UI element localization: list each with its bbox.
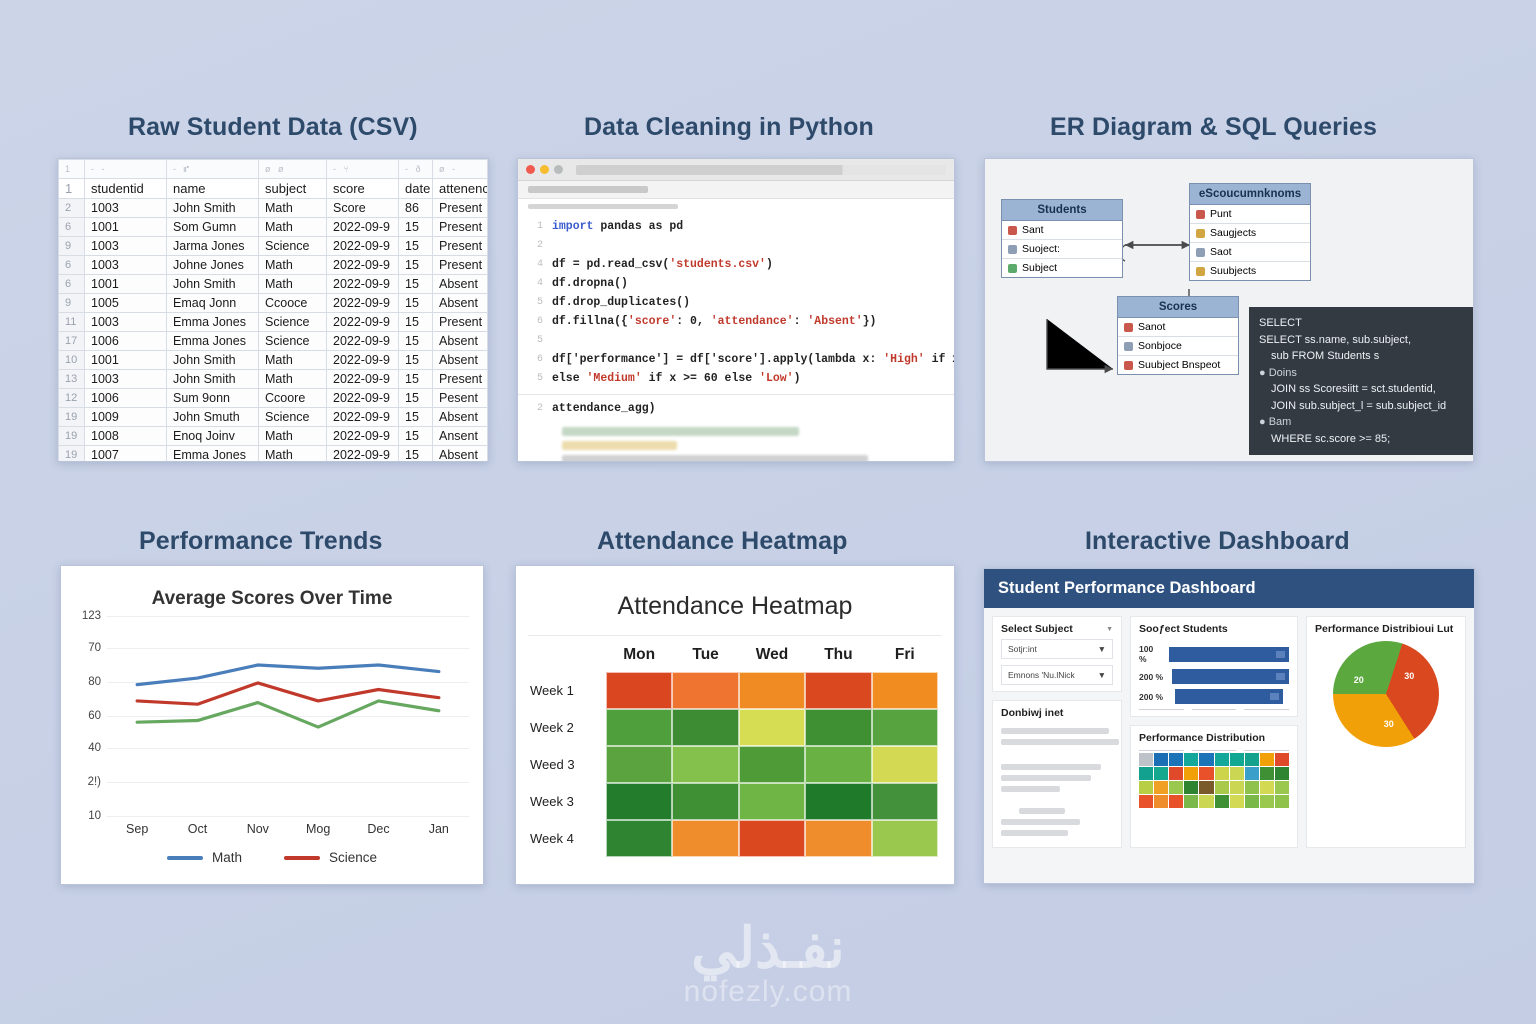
chevron-down-icon[interactable]: ▼ (1098, 670, 1106, 680)
heatmap-title: Attendance Heatmap (516, 566, 954, 635)
cell-attendance[interactable]: Present (433, 313, 488, 332)
column-header[interactable]: studentid (85, 179, 167, 199)
cell-date[interactable]: 15 (399, 275, 433, 294)
placeholder-line (1019, 808, 1065, 814)
ghost-cell: - - (85, 160, 167, 179)
notes-card[interactable]: Donbiwj inet (992, 700, 1122, 848)
table-row[interactable]: 191008Enoq JoinvMath2022-09-915Ansent (59, 427, 488, 446)
er-field[interactable]: Subject (1002, 259, 1122, 277)
csv-table-body[interactable]: 1- -- ⑈ø ø- ⑂- ðø -1studentidnamesubject… (59, 160, 488, 463)
heatmap-cell[interactable] (606, 672, 672, 709)
heatmap-cell[interactable] (606, 820, 672, 857)
line-number: 2 (518, 399, 552, 418)
code-cell-2[interactable]: 2attendance_agg) (518, 395, 954, 418)
row-number: 19 (59, 446, 85, 463)
mini-heatmap-cell[interactable] (1230, 781, 1244, 794)
table-row[interactable]: 91005Emaq JonnCcooce2022-09-915Absent (59, 294, 488, 313)
column-header[interactable]: attenence (433, 179, 488, 199)
mini-heatmap-cell[interactable] (1139, 781, 1153, 794)
code-line[interactable]: 2 (518, 236, 954, 255)
chart-legend[interactable]: MathScience (61, 850, 483, 865)
er-field[interactable]: Suoject: (1002, 240, 1122, 259)
heatmap-cell[interactable] (805, 746, 871, 783)
er-field-label: Suubject Bnspeot (1138, 359, 1220, 371)
mini-heatmap-cell[interactable] (1154, 781, 1168, 794)
toolbar-placeholder (528, 186, 648, 193)
y-axis-tick-label: 40 (63, 742, 101, 754)
cell-date[interactable]: 15 (399, 313, 433, 332)
mini-heatmap-cell[interactable] (1215, 753, 1229, 766)
cell-studentid[interactable]: 1006 (85, 332, 167, 351)
mini-heatmap-cell[interactable] (1245, 781, 1259, 794)
cell-studentid[interactable]: 1003 (85, 237, 167, 256)
mini-heatmap-cell[interactable] (1260, 795, 1274, 808)
csv-table[interactable]: 1- -- ⑈ø ø- ⑂- ðø -1studentidnamesubject… (58, 159, 488, 462)
mini-heatmap-cell[interactable] (1245, 795, 1259, 808)
legend-swatch (167, 856, 203, 860)
heatmap-cell[interactable] (672, 672, 738, 709)
table-row[interactable]: 21003John SmithMathScore86Present (59, 199, 488, 218)
cell-studentid[interactable]: 1003 (85, 199, 167, 218)
cell-studentid[interactable]: 1008 (85, 427, 167, 446)
mini-heatmap-cell[interactable] (1184, 753, 1198, 766)
heatmap-row-label: Week 1 (530, 672, 606, 709)
cell-name[interactable]: John Smuth (167, 408, 259, 427)
sql-query-box[interactable]: SELECTSELECT ss.name, sub.subject,sub FR… (1249, 307, 1474, 455)
python-notebook-panel[interactable]: 1import pandas as pd24df = pd.read_csv('… (517, 158, 955, 462)
cell-studentid[interactable]: 1006 (85, 389, 167, 408)
mini-heatmap-cell[interactable] (1199, 753, 1213, 766)
y-axis-tick-label: 2!) (63, 776, 101, 788)
y-axis-tick-label: 123 (63, 610, 101, 622)
line-number: 6 (518, 312, 552, 331)
heatmap-row-label: Week 3 (530, 783, 606, 820)
er-field[interactable]: Saugjects (1190, 224, 1310, 243)
subject-filter-card[interactable]: Select Subject ▼ Sotjr:int ▼ Emnons 'Nu.… (992, 616, 1122, 692)
pie-card-title: Performance Distribioui Lut (1307, 617, 1465, 639)
cell-subject[interactable]: Math (259, 427, 327, 446)
cell-subject[interactable]: Science (259, 408, 327, 427)
table-row[interactable]: 191007Emma JonesMath2022-09-915Absent (59, 446, 488, 463)
bar[interactable] (1169, 647, 1289, 662)
performance-trends-chart-panel[interactable]: Average Scores Over Time 123708060402!)1… (60, 565, 484, 885)
heatmap-cell[interactable] (872, 820, 938, 857)
mini-heatmap-cell[interactable] (1275, 767, 1289, 780)
mini-heatmap-cell[interactable] (1184, 795, 1198, 808)
cell-attendance[interactable]: Present (433, 256, 488, 275)
code-line[interactable]: 1import pandas as pd (518, 217, 954, 236)
student-select[interactable]: Emnons 'Nu.lNick ▼ (1001, 665, 1113, 685)
code-line-text: attendance_agg) (552, 399, 656, 418)
cell-subject[interactable]: Math (259, 256, 327, 275)
mini-heatmap-cell[interactable] (1215, 795, 1229, 808)
dashboard-header-title: Student Performance Dashboard (984, 569, 1474, 608)
cell-name[interactable]: Emma Jones (167, 313, 259, 332)
heatmap-cell[interactable] (872, 709, 938, 746)
cell-name[interactable]: Emma Jones (167, 332, 259, 351)
heatmap-cell[interactable] (805, 672, 871, 709)
cell-date[interactable]: 15 (399, 408, 433, 427)
cell-subject[interactable]: Science (259, 313, 327, 332)
cell-score[interactable]: 2022-09-9 (327, 351, 399, 370)
column-header[interactable]: score (327, 179, 399, 199)
section-title-csv: Raw Student Data (CSV) (128, 113, 418, 142)
cell-studentid[interactable]: 1001 (85, 275, 167, 294)
blurred-code-line (562, 441, 677, 450)
mini-heatmap-cell[interactable] (1275, 781, 1289, 794)
cell-score[interactable]: 2022-09-9 (327, 313, 399, 332)
bar-chart[interactable]: 100 %200 %200 % (1131, 644, 1297, 704)
section-title-trends: Performance Trends (139, 527, 383, 556)
heatmap-grid[interactable]: MonTueWedThuFriWeek 1Week 2Weed 3Week 3W… (530, 646, 938, 857)
cell-attendance[interactable]: Ansent (433, 427, 488, 446)
key-icon (1196, 267, 1205, 276)
mini-heatmap-cell[interactable] (1245, 753, 1259, 766)
mini-heatmap-cell[interactable] (1154, 767, 1168, 780)
cell-placeholder (528, 204, 678, 209)
table-row[interactable]: 191009John SmuthScience2022-09-915Absent (59, 408, 488, 427)
watermark: نفـذلي nofezly.com (0, 915, 1536, 1009)
mini-heatmap-cell[interactable] (1275, 795, 1289, 808)
csv-spreadsheet-panel[interactable]: 1- -- ⑈ø ø- ⑂- ðø -1studentidnamesubject… (57, 158, 489, 462)
code-cell-1[interactable]: 1import pandas as pd24df = pd.read_csv('… (518, 213, 954, 388)
mini-heatmap[interactable] (1139, 753, 1289, 808)
legend-item[interactable]: Science (284, 850, 377, 865)
mini-heatmap-cell[interactable] (1215, 767, 1229, 780)
maximize-dot-icon[interactable] (554, 165, 563, 174)
table-row[interactable]: 111003Emma JonesScience2022-09-915Presen… (59, 313, 488, 332)
ghost-cell: ø - (433, 160, 488, 179)
chevron-down-icon[interactable]: ▼ (1098, 644, 1106, 654)
cell-date[interactable]: 15 (399, 446, 433, 463)
subject-select-value: Sotjr:int (1008, 644, 1037, 654)
line-number: 2 (518, 236, 552, 255)
ghost-cell: ø ø (259, 160, 327, 179)
notebook-toolbar[interactable] (518, 181, 954, 199)
heatmap-cell[interactable] (805, 820, 871, 857)
cell-name[interactable]: Emaq Jonn (167, 294, 259, 313)
heatmap-cell[interactable] (672, 709, 738, 746)
chevron-down-icon[interactable]: ▼ (1106, 626, 1113, 633)
cell-date[interactable]: 15 (399, 370, 433, 389)
mini-heatmap-cell[interactable] (1139, 795, 1153, 808)
mini-heatmap-cell[interactable] (1169, 795, 1183, 808)
close-dot-icon[interactable] (526, 165, 535, 174)
line-number: 5 (518, 331, 552, 350)
attendance-heatmap-panel[interactable]: Attendance Heatmap MonTueWedThuFriWeek 1… (515, 565, 955, 885)
mini-heatmap-cell[interactable] (1260, 781, 1274, 794)
mini-heatmap-cell[interactable] (1199, 781, 1213, 794)
cell-name[interactable]: John Smith (167, 351, 259, 370)
cell-date[interactable]: 15 (399, 427, 433, 446)
code-line[interactable]: 5df.drop_duplicates() (518, 293, 954, 312)
table-row[interactable]: 131003John SmithMath2022-09-915Present (59, 370, 488, 389)
row-number: 12 (59, 389, 85, 408)
er-diagram-panel[interactable]: StudentsSantSuoject:SubjecteScoucumnknom… (984, 158, 1474, 462)
cell-studentid[interactable]: 1001 (85, 351, 167, 370)
cell-score[interactable]: 2022-09-9 (327, 218, 399, 237)
cell-date[interactable]: 15 (399, 294, 433, 313)
cell-attendance[interactable]: Present (433, 199, 488, 218)
line-number: 6 (518, 350, 552, 369)
cell-studentid[interactable]: 1005 (85, 294, 167, 313)
cell-subject[interactable]: Math (259, 446, 327, 463)
row-number: 6 (59, 218, 85, 237)
mini-heatmap-cell[interactable] (1169, 781, 1183, 794)
mini-heatmap-cell[interactable] (1245, 767, 1259, 780)
cell-date[interactable]: 86 (399, 199, 433, 218)
section-title-heatmap: Attendance Heatmap (597, 527, 847, 556)
mini-heatmap-cell[interactable] (1230, 767, 1244, 780)
cell-studentid[interactable]: 1007 (85, 446, 167, 463)
cell-name[interactable]: John Smith (167, 199, 259, 218)
mini-heatmap-cell[interactable] (1230, 795, 1244, 808)
cell-attendance[interactable]: Present (433, 237, 488, 256)
code-line[interactable]: 4df.dropna() (518, 274, 954, 293)
mini-heatmap-cell[interactable] (1154, 753, 1168, 766)
er-field[interactable]: Sonbjoce (1118, 337, 1238, 356)
cell-attendance[interactable]: Present (433, 370, 488, 389)
x-axis-tick-label: Oct (167, 822, 227, 836)
pie-chart-card[interactable]: Performance Distribioui Lut 303020 (1306, 616, 1466, 848)
slide-canvas: Raw Student Data (CSV) Data Cleaning in … (0, 0, 1536, 1024)
code-line[interactable]: 5else 'Medium' if x >= 60 else 'Low') (518, 369, 954, 388)
address-bar[interactable] (576, 165, 946, 175)
mini-heatmap-cell[interactable] (1169, 753, 1183, 766)
er-field[interactable]: Punt (1190, 205, 1310, 224)
cell-subject[interactable]: Ccoore (259, 389, 327, 408)
heatmap-cell[interactable] (672, 820, 738, 857)
mini-heatmap-cell[interactable] (1215, 781, 1229, 794)
mini-heatmap-cell[interactable] (1260, 767, 1274, 780)
sql-query-text: SELECTSELECT ss.name, sub.subject,sub FR… (1259, 315, 1465, 447)
table-row[interactable]: 121006Sum 9onnCcoore2022-09-915Pesent (59, 389, 488, 408)
mini-heatmap-cell[interactable] (1184, 781, 1198, 794)
bottom-card-title: Performance Distribution (1131, 726, 1297, 748)
mini-heatmap-cell[interactable] (1139, 753, 1153, 766)
y-axis-tick-label: 80 (63, 676, 101, 688)
heatmap-cell[interactable] (606, 709, 672, 746)
table-row[interactable]: 91003Jarma JonesScience2022-09-915Presen… (59, 237, 488, 256)
code-line[interactable]: 4df = pd.read_csv('students.csv') (518, 255, 954, 274)
mini-heatmap-cell[interactable] (1199, 795, 1213, 808)
cell-name[interactable]: John Smith (167, 370, 259, 389)
cell-score[interactable]: 2022-09-9 (327, 446, 399, 463)
filter-card-title: Select Subject (1001, 623, 1073, 635)
cell-attendance[interactable]: Present (433, 218, 488, 237)
key-icon (1124, 361, 1133, 370)
title-divider (528, 635, 942, 636)
sql-line: WHERE sc.score >= 85; (1259, 431, 1465, 448)
cell-subject[interactable]: Math (259, 351, 327, 370)
heatmap-cell[interactable] (739, 709, 805, 746)
cell-name[interactable]: Som Gumn (167, 218, 259, 237)
x-axis-tick-label: Sep (107, 822, 167, 836)
er-entity-title: Students (1002, 200, 1122, 221)
column-header[interactable]: subject (259, 179, 327, 199)
heatmap-cell[interactable] (739, 783, 805, 820)
table-row[interactable]: 171006Emma JonesScience2022-09-915Absent (59, 332, 488, 351)
bar-row[interactable]: 200 % (1139, 689, 1289, 704)
cell-attendance[interactable]: Absent (433, 408, 488, 427)
x-axis-tick-label: Dec (348, 822, 408, 836)
heatmap-corner (530, 646, 606, 672)
heatmap-column-label: Tue (672, 646, 738, 672)
cell-studentid[interactable]: 1003 (85, 313, 167, 332)
bar-row[interactable]: 100 % (1139, 644, 1289, 664)
key-icon (1124, 342, 1133, 351)
code-line[interactable]: 6df.fillna({'score': 0, 'attendance': 'A… (518, 312, 954, 331)
cell-score[interactable]: 2022-09-9 (327, 389, 399, 408)
cell-name[interactable]: Jarma Jones (167, 237, 259, 256)
legend-label: Math (212, 850, 242, 865)
cell-subject[interactable]: Math (259, 275, 327, 294)
heatmap-cell[interactable] (606, 783, 672, 820)
subject-select[interactable]: Sotjr:int ▼ (1001, 639, 1113, 659)
table-row[interactable]: 61001Som GumnMath2022-09-915Present (59, 218, 488, 237)
performance-distribution-card[interactable]: Performance Distribution (1130, 725, 1298, 848)
legend-item[interactable]: Math (167, 850, 242, 865)
mini-heatmap-cell[interactable] (1275, 753, 1289, 766)
er-entity[interactable]: eScoucumnknomsPuntSaugjectsSaotSuubjects (1189, 183, 1311, 281)
cell-attendance[interactable]: Absent (433, 332, 488, 351)
code-line[interactable]: 5 (518, 331, 954, 350)
ghost-cell: - ⑈ (167, 160, 259, 179)
heatmap-cell[interactable] (739, 672, 805, 709)
mini-heatmap-cell[interactable] (1184, 767, 1198, 780)
gridline (107, 816, 469, 817)
cell-score[interactable]: 2022-09-9 (327, 294, 399, 313)
table-row[interactable]: 1- -- ⑈ø ø- ⑂- ðø - (59, 160, 488, 179)
heatmap-cell[interactable] (872, 672, 938, 709)
mini-heatmap-cell[interactable] (1139, 767, 1153, 780)
column-header[interactable]: date (399, 179, 433, 199)
minimize-dot-icon[interactable] (540, 165, 549, 174)
cell-studentid[interactable]: 1003 (85, 256, 167, 275)
chart-title: Average Scores Over Time (61, 566, 483, 616)
line-number: 1 (518, 217, 552, 236)
cell-score[interactable]: 2022-09-9 (327, 332, 399, 351)
section-title-python: Data Cleaning in Python (584, 113, 874, 142)
heatmap-column-label: Fri (872, 646, 938, 672)
row-number: 9 (59, 294, 85, 313)
subject-students-bar-card[interactable]: Sooƒect Students 100 %200 %200 % (1130, 616, 1298, 717)
cell-score[interactable]: 2022-09-9 (327, 408, 399, 427)
heatmap-column-label: Wed (739, 646, 805, 672)
sql-line: SELECT ss.name, sub.subject, (1259, 332, 1465, 349)
ghost-cell: - ⑂ (327, 160, 399, 179)
code-line[interactable]: 6df['performance'] = df['score'].apply(l… (518, 350, 954, 369)
er-field[interactable]: Suubject Bnspeot (1118, 356, 1238, 374)
bar[interactable] (1175, 689, 1283, 704)
cell-name[interactable]: Emma Jones (167, 446, 259, 463)
cell-score[interactable]: 2022-09-9 (327, 370, 399, 389)
cell-score[interactable]: 2022-09-9 (327, 427, 399, 446)
row-number: 6 (59, 256, 85, 275)
cell-subject[interactable]: Math (259, 218, 327, 237)
code-line-text: df['performance'] = df['score'].apply(la… (552, 350, 955, 369)
cell-name[interactable]: Sum 9onn (167, 389, 259, 408)
heatmap-cell[interactable] (805, 783, 871, 820)
er-field[interactable]: Saot (1190, 243, 1310, 262)
cell-subject[interactable]: Science (259, 237, 327, 256)
mini-heatmap-cell[interactable] (1199, 767, 1213, 780)
cell-subject[interactable]: Math (259, 370, 327, 389)
cell-score[interactable]: 2022-09-9 (327, 237, 399, 256)
cell-studentid[interactable]: 1001 (85, 218, 167, 237)
heatmap-cell[interactable] (672, 783, 738, 820)
er-entity[interactable]: StudentsSantSuoject:Subject (1001, 199, 1123, 278)
er-entity[interactable]: ScoresSanotSonbjoceSuubject Bnspeot (1117, 296, 1239, 375)
row-number: 6 (59, 275, 85, 294)
cell-date[interactable]: 15 (399, 256, 433, 275)
table-row[interactable]: 61001John SmithMath2022-09-915Absent (59, 275, 488, 294)
heatmap-cell[interactable] (805, 709, 871, 746)
table-row[interactable]: 61003Johne JonesMath2022-09-915Present (59, 256, 488, 275)
heatmap-cell[interactable] (672, 746, 738, 783)
table-header-row[interactable]: 1studentidnamesubjectscoredateattenence (59, 179, 488, 199)
sql-line: SELECT (1259, 315, 1465, 332)
cell-attendance[interactable]: Absent (433, 275, 488, 294)
interactive-dashboard-panel[interactable]: Student Performance Dashboard Select Sub… (983, 568, 1475, 884)
heatmap-cell[interactable] (739, 820, 805, 857)
bar[interactable] (1172, 669, 1289, 684)
mini-heatmap-cell[interactable] (1154, 795, 1168, 808)
heatmap-cell[interactable] (739, 746, 805, 783)
heatmap-cell[interactable] (872, 783, 938, 820)
key-icon (1196, 229, 1205, 238)
cell-score[interactable]: 2022-09-9 (327, 275, 399, 294)
legend-label: Science (329, 850, 377, 865)
column-header[interactable]: name (167, 179, 259, 199)
cell-studentid[interactable]: 1003 (85, 370, 167, 389)
cell-date[interactable]: 15 (399, 237, 433, 256)
mini-heatmap-cell[interactable] (1260, 753, 1274, 766)
mini-heatmap-cell[interactable] (1169, 767, 1183, 780)
er-field[interactable]: Sanot (1118, 318, 1238, 337)
cell-studentid[interactable]: 1009 (85, 408, 167, 427)
sql-line: ● Bam (1259, 414, 1465, 431)
cell-attendance[interactable]: Pesent (433, 389, 488, 408)
cell-name[interactable]: Enoq Joinv (167, 427, 259, 446)
heatmap-cell[interactable] (606, 746, 672, 783)
cell-score[interactable]: 2022-09-9 (327, 256, 399, 275)
cell-date[interactable]: 15 (399, 389, 433, 408)
cell-subject[interactable]: Ccooce (259, 294, 327, 313)
notes-card-title: Donbiwj inet (993, 701, 1121, 723)
pie-chart[interactable]: 303020 (1333, 641, 1439, 747)
cell-subject[interactable]: Math (259, 199, 327, 218)
table-row[interactable]: 101001John SmithMath2022-09-915Absent (59, 351, 488, 370)
cell-date[interactable]: 15 (399, 332, 433, 351)
cell-attendance[interactable]: Absent (433, 351, 488, 370)
cell-name[interactable]: John Smith (167, 275, 259, 294)
cell-attendance[interactable]: Absent (433, 294, 488, 313)
cell-attendance[interactable]: Absent (433, 446, 488, 463)
line-chart-plot-area: 123708060402!)10 (107, 616, 469, 816)
bar-row[interactable]: 200 % (1139, 669, 1289, 684)
heatmap-cell[interactable] (872, 746, 938, 783)
cell-subject[interactable]: Science (259, 332, 327, 351)
placeholder-line (1001, 830, 1068, 836)
mini-heatmap-cell[interactable] (1230, 753, 1244, 766)
er-field[interactable]: Suubjects (1190, 262, 1310, 280)
cell-date[interactable]: 15 (399, 351, 433, 370)
er-field[interactable]: Sant (1002, 221, 1122, 240)
cell-score[interactable]: Score (327, 199, 399, 218)
cell-date[interactable]: 15 (399, 218, 433, 237)
cell-name[interactable]: Johne Jones (167, 256, 259, 275)
